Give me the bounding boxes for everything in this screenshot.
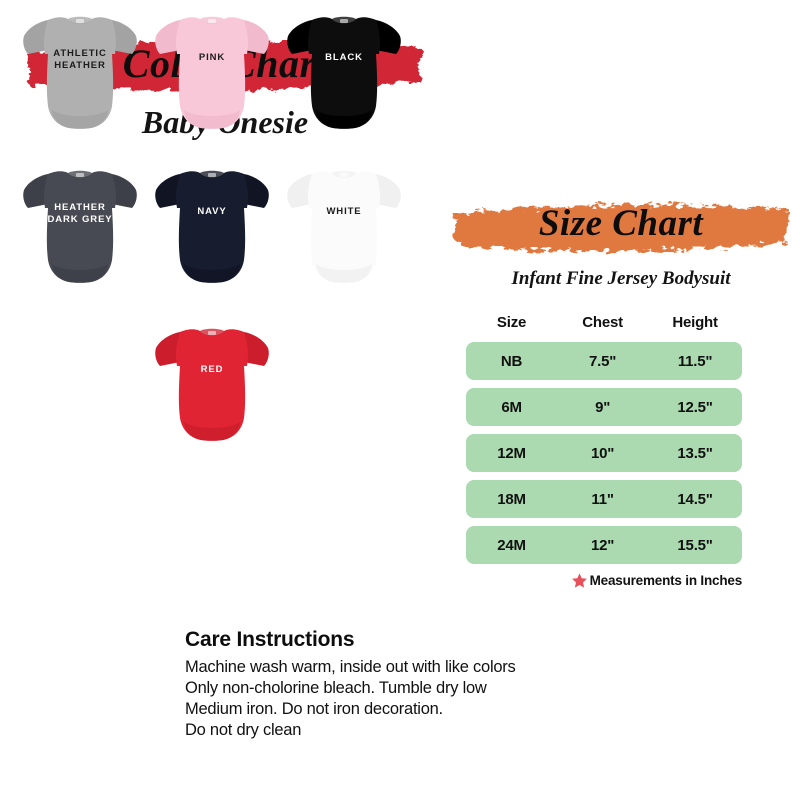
care-instruction-line: Only non-cholorine bleach. Tumble dry lo… bbox=[185, 678, 645, 699]
table-row: 6M9"12.5" bbox=[466, 388, 742, 426]
onesie-label-red: RED bbox=[150, 364, 274, 376]
care-instructions-block: Care Instructions Machine wash warm, ins… bbox=[185, 628, 645, 741]
onesie-pink[interactable]: PINK bbox=[150, 6, 274, 142]
cell-height: 11.5" bbox=[648, 353, 742, 370]
table-row: 12M10"13.5" bbox=[466, 434, 742, 472]
care-instruction-line: Do not dry clean bbox=[185, 720, 645, 741]
cell-chest: 9" bbox=[557, 399, 648, 416]
onesie-label-athletic-heather: ATHLETICHEATHER bbox=[18, 48, 142, 71]
cell-chest: 7.5" bbox=[557, 353, 648, 370]
onesie-label-pink: PINK bbox=[150, 52, 274, 64]
cell-size: 18M bbox=[466, 491, 557, 508]
cell-size: 24M bbox=[466, 537, 557, 554]
onesie-white[interactable]: WHITE bbox=[282, 160, 406, 296]
care-instructions-title: Care Instructions bbox=[185, 628, 645, 652]
table-row: NB7.5"11.5" bbox=[466, 342, 742, 380]
cell-chest: 11" bbox=[557, 491, 648, 508]
onesie-graphic bbox=[18, 6, 142, 142]
measurements-note-text: Measurements in Inches bbox=[590, 573, 742, 588]
onesie-athletic-heather[interactable]: ATHLETICHEATHER bbox=[18, 6, 142, 142]
care-instruction-line: Machine wash warm, inside out with like … bbox=[185, 657, 645, 678]
cell-height: 13.5" bbox=[648, 445, 742, 462]
size-chart-subtitle: Infant Fine Jersey Bodysuit bbox=[452, 268, 790, 290]
cell-height: 12.5" bbox=[648, 399, 742, 416]
table-row: 18M11"14.5" bbox=[466, 480, 742, 518]
column-header-chest: Chest bbox=[557, 314, 648, 331]
cell-chest: 10" bbox=[557, 445, 648, 462]
onesie-black[interactable]: BLACK bbox=[282, 6, 406, 142]
onesie-label-black: BLACK bbox=[282, 52, 406, 64]
size-chart-table: Size Chest Height NB7.5"11.5"6M9"12.5"12… bbox=[466, 310, 742, 564]
onesie-label-heather-dark-grey: HEATHERDARK GREY bbox=[18, 202, 142, 225]
cell-size: NB bbox=[466, 353, 557, 370]
onesie-graphic bbox=[18, 160, 142, 296]
onesie-label-navy: NAVY bbox=[150, 206, 274, 218]
onesie-graphic bbox=[150, 318, 274, 454]
onesie-label-white: WHITE bbox=[282, 206, 406, 218]
column-header-height: Height bbox=[648, 314, 742, 331]
onesie-graphic bbox=[150, 160, 274, 296]
cell-height: 15.5" bbox=[648, 537, 742, 554]
cell-chest: 12" bbox=[557, 537, 648, 554]
cell-height: 14.5" bbox=[648, 491, 742, 508]
table-row: 24M12"15.5" bbox=[466, 526, 742, 564]
cell-size: 6M bbox=[466, 399, 557, 416]
onesie-red[interactable]: RED bbox=[150, 318, 274, 454]
onesie-graphic bbox=[282, 160, 406, 296]
onesie-graphic bbox=[282, 6, 406, 142]
table-body: NB7.5"11.5"6M9"12.5"12M10"13.5"18M11"14.… bbox=[466, 342, 742, 564]
column-header-size: Size bbox=[466, 314, 557, 331]
care-instruction-line: Medium iron. Do not iron decoration. bbox=[185, 699, 645, 720]
onesie-graphic bbox=[150, 6, 274, 142]
measurements-note: Measurements in Inches bbox=[466, 572, 742, 589]
care-instructions-lines: Machine wash warm, inside out with like … bbox=[185, 657, 645, 741]
onesie-navy[interactable]: NAVY bbox=[150, 160, 274, 296]
table-header-row: Size Chest Height bbox=[466, 310, 742, 334]
cell-size: 12M bbox=[466, 445, 557, 462]
onesie-heather-dark-grey[interactable]: HEATHERDARK GREY bbox=[18, 160, 142, 296]
size-chart-title: Size Chart bbox=[452, 202, 790, 245]
onesie-color-grid: ATHLETICHEATHER PINK bbox=[0, 0, 400, 470]
star-icon bbox=[571, 572, 588, 589]
